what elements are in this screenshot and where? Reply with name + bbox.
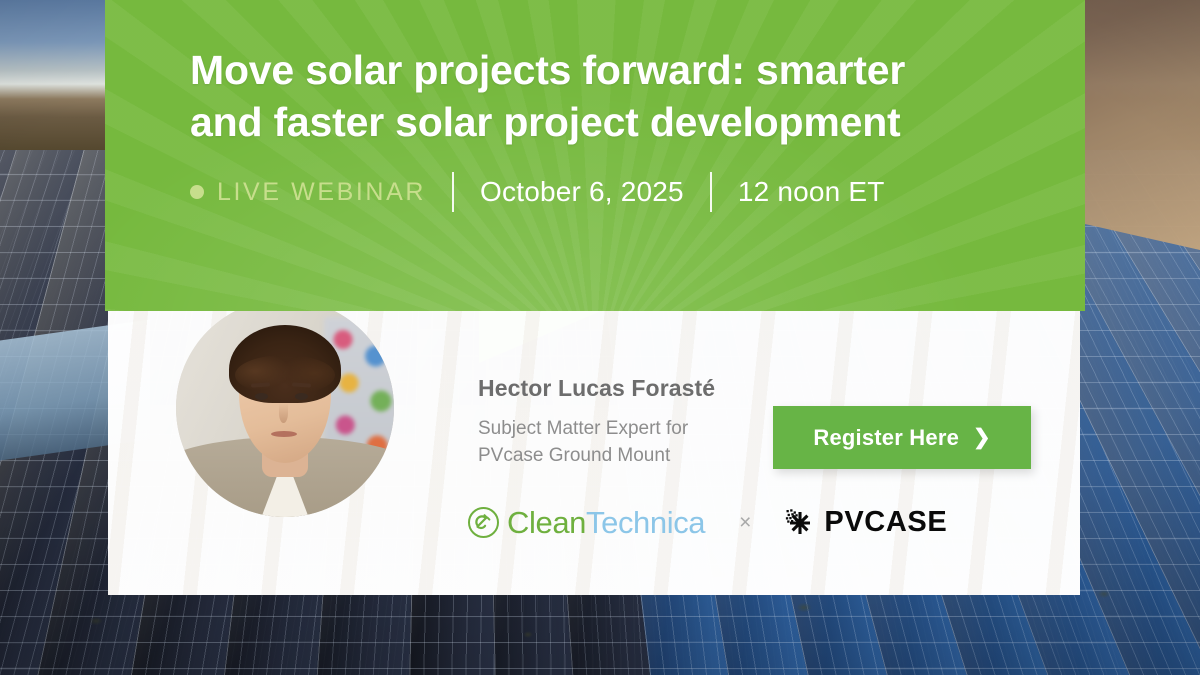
speaker-info: Hector Lucas Forasté Subject Matter Expe… (478, 375, 715, 470)
partner-logos: CleanTechnica × (468, 507, 947, 538)
cleantechnica-plug-icon (468, 507, 499, 538)
meta-divider (452, 172, 454, 212)
cleantechnica-word-clean: Clean (507, 505, 586, 540)
cleantechnica-logo[interactable]: CleanTechnica (468, 507, 705, 538)
live-dot-icon (190, 185, 204, 199)
speaker-role-line-2: PVcase Ground Mount (478, 443, 715, 470)
live-webinar-badge: LIVE WEBINAR (190, 178, 426, 207)
pvcase-logo[interactable]: PVCASE (785, 508, 947, 538)
webinar-date: October 6, 2025 (480, 176, 684, 208)
register-here-button[interactable]: Register Here ❯ (773, 406, 1031, 469)
portrait-mouth (271, 431, 297, 437)
meta-divider (710, 172, 712, 212)
speaker-card: Hector Lucas Forasté Subject Matter Expe… (108, 311, 1080, 595)
webinar-time: 12 noon ET (738, 176, 885, 208)
pvcase-starburst-icon (785, 508, 815, 538)
webinar-meta-row: LIVE WEBINAR October 6, 2025 12 noon ET (190, 170, 1085, 214)
page-title: Move solar projects forward: smarter and… (190, 44, 980, 148)
cleantechnica-word-technica: Technica (586, 505, 705, 540)
register-here-label: Register Here (813, 425, 959, 451)
cleantechnica-wordmark: CleanTechnica (507, 507, 705, 538)
chevron-right-icon: ❯ (973, 425, 991, 450)
logo-separator-x: × (739, 511, 751, 535)
pvcase-wordmark: PVCASE (824, 508, 947, 537)
portrait-eye-right (295, 393, 308, 400)
live-webinar-label: LIVE WEBINAR (217, 178, 426, 207)
portrait-nose (279, 403, 288, 423)
avatar (176, 311, 394, 517)
speaker-name: Hector Lucas Forasté (478, 375, 715, 402)
headline-panel: Move solar projects forward: smarter and… (105, 0, 1085, 311)
speaker-role: Subject Matter Expert for PVcase Ground … (478, 416, 715, 470)
portrait-eye-left (255, 393, 268, 400)
speaker-role-line-1: Subject Matter Expert for (478, 416, 715, 443)
